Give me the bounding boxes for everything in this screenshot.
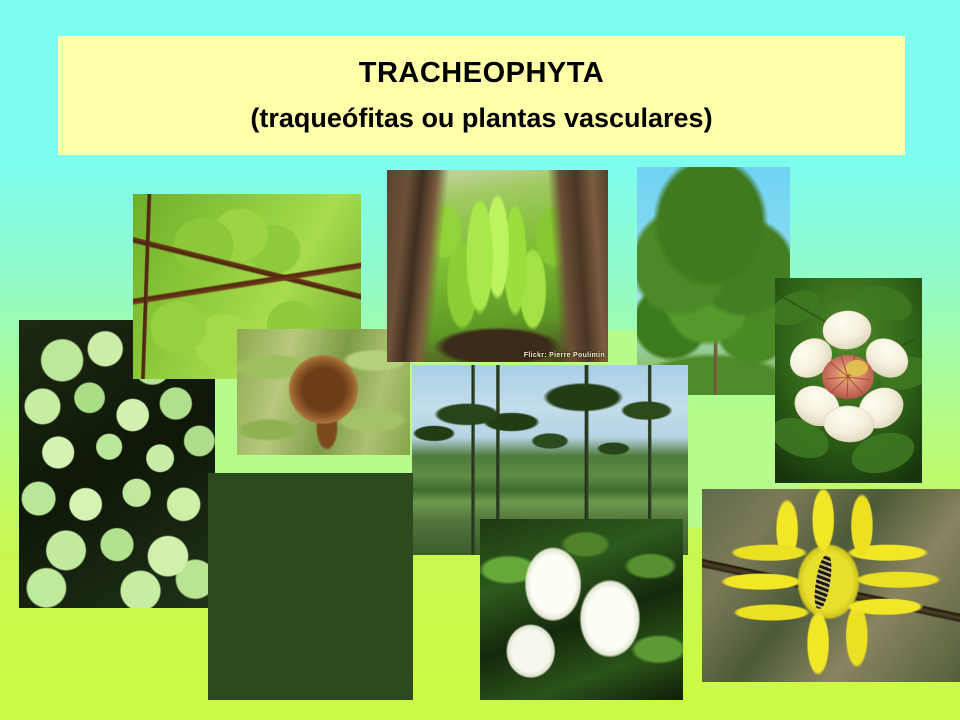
photo-credit-watermark: Flickr: Pierre Poulimin: [524, 352, 605, 359]
photo-fiddlehead: [237, 329, 410, 455]
photo-yellow-daisy: [702, 489, 960, 682]
photo-pine-tree: [637, 167, 790, 395]
title-banner: TRACHEOPHYTA (traqueófitas ou plantas va…: [58, 36, 905, 155]
photo-birds-nest-fern: Flickr: Pierre Poulimin: [387, 170, 608, 362]
page-title: TRACHEOPHYTA: [359, 57, 605, 90]
photo-peace-lily: [480, 519, 683, 700]
photo-magnolia: [775, 278, 922, 483]
photo-tree-ferns: [208, 473, 413, 700]
hoverfly-insect: [811, 554, 833, 610]
magnolia-illustration: [775, 278, 922, 483]
page-subtitle: (traqueófitas ou plantas vasculares): [250, 103, 712, 134]
slide-canvas: TRACHEOPHYTA (traqueófitas ou plantas va…: [0, 0, 960, 720]
